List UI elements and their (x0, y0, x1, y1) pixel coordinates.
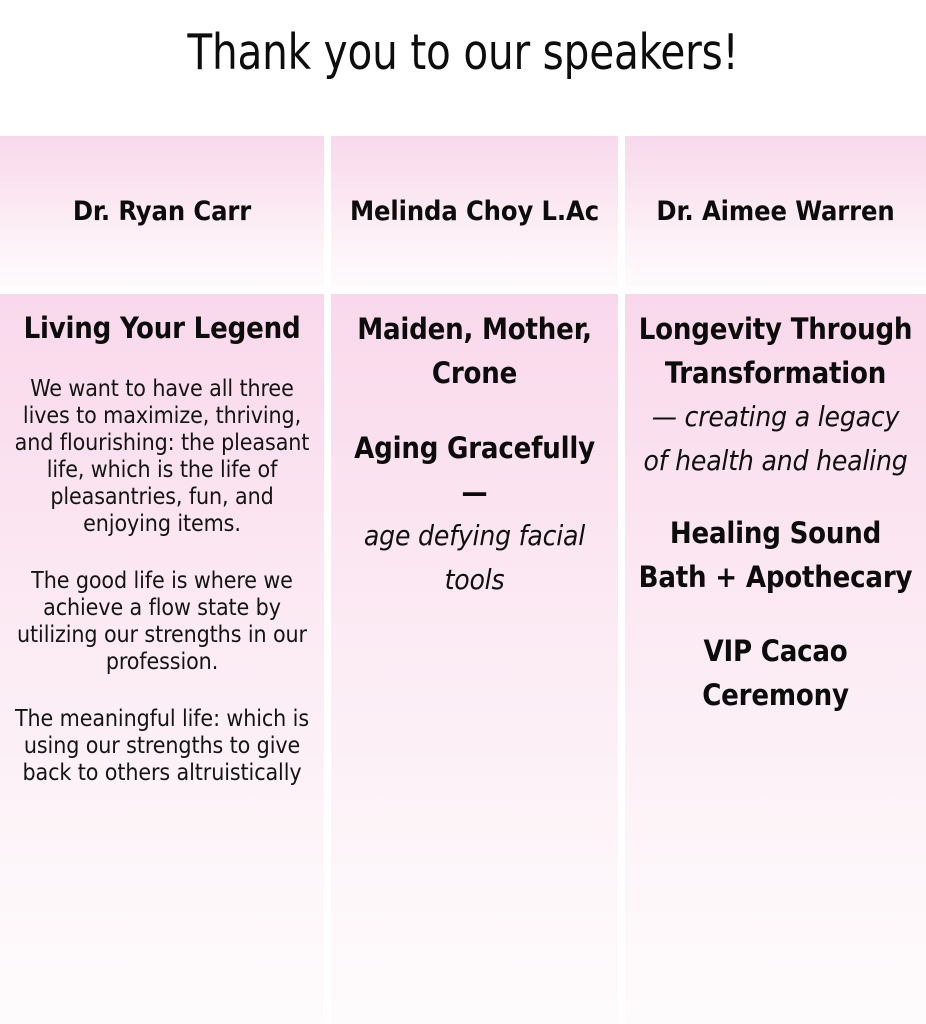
row-gap-left (0, 287, 324, 294)
talk-subtitle-3: — creating a legacy of health and healin… (637, 395, 914, 483)
talk-aging-heading: Aging Gracefully — (343, 426, 606, 514)
offering-sound-bath: Healing Sound Bath + Apothecary (637, 511, 914, 599)
offering-cacao-ceremony: VIP Cacao Ceremony (637, 629, 914, 717)
speaker-name-2: Melinda Choy L.Ac (350, 188, 599, 236)
talk-paragraph-1-2: The good life is where we achieve a flow… (12, 568, 312, 676)
speaker-name-1: Dr. Ryan Carr (73, 188, 251, 236)
speaker-header-cell-3: Dr. Aimee Warren (625, 136, 926, 287)
speaker-header-cell-2: Melinda Choy L.Ac (331, 136, 618, 287)
column-gap-4 (618, 294, 625, 1024)
speaker-body-cell-1: Living Your Legend We want to have all t… (0, 294, 324, 1024)
column-gap-3 (324, 294, 331, 1024)
talk-subsection-2: Aging Gracefully — age defying facial to… (343, 426, 606, 602)
talk-aging-subtitle: age defying facial tools (343, 514, 606, 602)
row-gap-right (625, 287, 926, 294)
talk-title-1: Living Your Legend (12, 306, 312, 350)
row-gap-cross-2 (618, 287, 625, 294)
talk-title-3: Longevity Through Transformation (637, 307, 914, 395)
speaker-body-cell-3: Longevity Through Transformation — creat… (625, 294, 926, 1024)
row-gap-middle (331, 287, 618, 294)
column-gap-1 (324, 136, 331, 287)
speakers-table: Dr. Ryan Carr Melinda Choy L.Ac Dr. Aime… (0, 136, 926, 1024)
speaker-name-3: Dr. Aimee Warren (656, 188, 894, 236)
page-title: Thank you to our speakers! (37, 22, 889, 84)
talk-paragraph-1-1: We want to have all three lives to maxim… (12, 376, 312, 538)
talk-title-2: Maiden, Mother, Crone (343, 307, 606, 395)
talk-paragraph-1-3: The meaningful life: which is using our … (12, 706, 312, 787)
row-gap-cross-1 (324, 287, 331, 294)
column-gap-2 (618, 136, 625, 287)
speaker-header-cell-1: Dr. Ryan Carr (0, 136, 324, 287)
speakers-page: Thank you to our speakers! Dr. Ryan Carr… (0, 0, 926, 1024)
speaker-body-cell-2: Maiden, Mother, Crone Aging Gracefully —… (331, 294, 618, 1024)
